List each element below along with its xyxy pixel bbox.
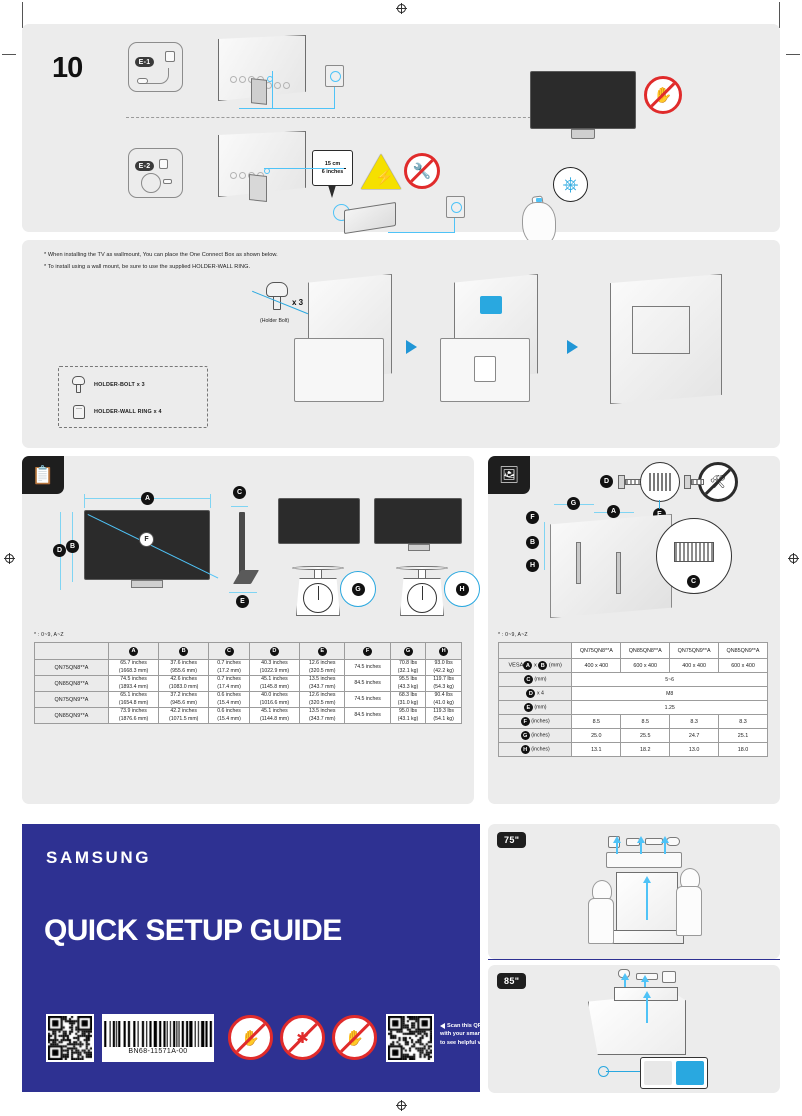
connect-box-cable-head-icon xyxy=(159,159,168,169)
size-tag-75: 75" xyxy=(497,832,526,848)
model-column-header: QN75QN9**A xyxy=(670,643,719,659)
quick-setup-guide-page: 10 E-1 E-2 xyxy=(0,0,802,1116)
dim-label-a: A xyxy=(141,492,154,505)
spec-value-cell: 25.5 xyxy=(621,729,670,743)
registration-mark-left xyxy=(4,553,15,564)
spec-value-cell: 0.6 inches(15.4 mm) xyxy=(209,708,250,724)
spec-value-cell: 400 x 400 xyxy=(572,659,621,673)
spec-value-cell: 8.5 xyxy=(621,715,670,729)
lift-arrow-head-1 xyxy=(613,836,621,843)
registration-mark-right xyxy=(788,553,799,564)
table-header-row: QN75QN8**AQN85QN8**AQN75QN9**AQN85QN9**A xyxy=(499,643,768,659)
flow-arrow-1 xyxy=(406,340,417,354)
page-title: QUICK SETUP GUIDE xyxy=(44,914,342,948)
detail-link-dot xyxy=(598,1066,609,1077)
wallmount-icon: 🖼 xyxy=(488,456,530,494)
crop-mark-tr-v xyxy=(779,2,780,28)
part-label-e1: E-1 xyxy=(135,57,154,67)
registration-mark-bottom xyxy=(396,1100,407,1111)
legend-row-holder-wall-ring: HOLDER-WALL RING x 4 xyxy=(73,405,162,419)
spec-value-cell: 74.5 inches xyxy=(345,692,390,708)
power-icon: ⎈ xyxy=(563,175,579,195)
cable-coil-icon xyxy=(141,173,161,193)
cta-arrow-icon xyxy=(440,1023,445,1029)
clearance-imperial: 6 inches xyxy=(322,169,344,175)
one-connect-cable-1 xyxy=(264,168,344,169)
detail-link-line xyxy=(606,1071,640,1072)
person-right-body-75 xyxy=(676,886,702,936)
column-label-dot: H xyxy=(439,647,448,656)
dim-label-f: F xyxy=(139,532,154,547)
legend-label-holder-wall-ring: HOLDER-WALL RING x 4 xyxy=(94,409,162,415)
spec-value-cell: 8.5 xyxy=(572,715,621,729)
dim-label-f-right: F xyxy=(526,511,539,524)
merged-value-cell: 5~6 xyxy=(572,673,768,687)
row-label-cell: C (mm) xyxy=(499,673,572,687)
label-dot: G xyxy=(521,731,530,740)
column-label-dot: B xyxy=(179,647,188,656)
no-impact-icon-footer: ✱ xyxy=(280,1015,325,1060)
spec-value-cell: 18.2 xyxy=(621,743,670,757)
screw-detail-wrong xyxy=(684,474,704,490)
table-row: QN85QN8**A74.5 inches(1893.4 mm)42.6 inc… xyxy=(35,676,462,692)
spec-value-cell: 42.2 inches(1071.5 mm) xyxy=(159,708,209,724)
tv-pedestal-dim xyxy=(131,580,163,588)
row-label-cell: F (inches) xyxy=(499,715,572,729)
tv-without-stand xyxy=(278,498,360,546)
table-header-row: ABCDEFGH xyxy=(35,643,462,660)
spec-value-cell: 45.1 inches(1145.8 mm) xyxy=(249,676,299,692)
spec-value-cell: 70.8 lbs(32.1 kg) xyxy=(390,660,425,676)
bracket-right xyxy=(616,552,621,594)
spec-value-cell: 0.7 inches(17.2 mm) xyxy=(209,660,250,676)
part-number-label: BN68-11571A-00 xyxy=(128,1048,187,1055)
column-header: F xyxy=(345,643,390,660)
table-row: QN85QN9**A73.9 inches(1876.6 mm)42.2 inc… xyxy=(35,708,462,724)
unboxing-panel-85: 85" xyxy=(488,965,780,1093)
column-label-dot: C xyxy=(225,647,234,656)
callout-stem xyxy=(328,185,336,198)
label-dot: E xyxy=(524,703,533,712)
spec-value-cell: 90.4 lbs(41.0 kg) xyxy=(426,692,462,708)
dim-e-line xyxy=(229,592,257,593)
spec-value-cell: 119.7 lbs(54.3 kg) xyxy=(426,676,462,692)
tv-dimension-diagram xyxy=(84,510,212,588)
part-label-e2: E-2 xyxy=(135,161,154,171)
column-header: D xyxy=(249,643,299,660)
label-dot: F xyxy=(521,717,530,726)
column-header: H xyxy=(426,643,462,660)
tv-side-view xyxy=(233,512,255,590)
table-row: F (inches)8.58.58.38.3 xyxy=(499,715,768,729)
spec-value-cell: 73.9 inches(1876.6 mm) xyxy=(109,708,159,724)
row-label-cell: D x 4 xyxy=(499,687,572,701)
tv-perspective-bottom xyxy=(218,131,310,215)
weight-bubble-g: G xyxy=(340,571,376,607)
tv-vent-holes-right xyxy=(265,82,299,90)
holder-bolt-illustration xyxy=(266,282,288,310)
clearance-metric: 15 cm xyxy=(325,161,340,167)
holder-bolt-caption: (Holder Bolt) xyxy=(260,318,289,324)
column-label-dot: D xyxy=(270,647,279,656)
part-box-e2: E-2 xyxy=(128,148,183,198)
dim-label-b: B xyxy=(66,540,79,553)
tv-carton-85 xyxy=(588,993,686,1055)
crop-mark-tr-h xyxy=(786,54,800,55)
table-row: E (mm)1.25 xyxy=(499,701,768,715)
lift-tv-arrow-85 xyxy=(646,997,648,1023)
spec-value-cell: 25.1 xyxy=(719,729,768,743)
thread-pattern xyxy=(649,473,672,491)
spec-value-cell: 25.0 xyxy=(572,729,621,743)
dim-label-d: D xyxy=(53,544,66,557)
step-number: 10 xyxy=(52,52,82,85)
spec-value-cell: 65.1 inches(1654.8 mm) xyxy=(109,692,159,708)
table-row: H (inches)13.118.213.018.0 xyxy=(499,743,768,757)
wall-outlet-bottom xyxy=(446,196,465,218)
part-box-e1: E-1 xyxy=(128,42,183,92)
spec-value-cell: 24.7 xyxy=(670,729,719,743)
barcode: BN68-11571A-00 xyxy=(102,1014,214,1062)
legend-row-holder-bolt: HOLDER-BOLT x 3 xyxy=(72,376,145,393)
dim-label-e: E xyxy=(236,595,249,608)
qr-code-video[interactable] xyxy=(386,1014,434,1062)
dim-label-g: G xyxy=(352,583,365,596)
spec-value-cell: 37.6 inches(955.6 mm) xyxy=(159,660,209,676)
column-header: A xyxy=(109,643,159,660)
tv-screen-with-stand xyxy=(374,498,462,544)
dimensions-section: 📋 A B D F C E xyxy=(22,456,474,804)
spec-value-cell: 84.5 inches xyxy=(345,708,390,724)
spec-value-cell: 18.0 xyxy=(719,743,768,757)
no-push-screen-icon-footer: ✋ xyxy=(228,1015,273,1060)
label-dot: H xyxy=(521,745,530,754)
model-column-header: QN85QN9**A xyxy=(719,643,768,659)
dimensions-table: ABCDEFGHQN75QN8**A65.7 inches(1668.3 mm)… xyxy=(34,642,462,724)
lift-tv-arrow-head xyxy=(643,876,651,883)
detail-callout-right xyxy=(676,1061,704,1085)
cable-tip-icon xyxy=(163,179,172,184)
flow-arrow-2 xyxy=(567,340,578,354)
label-dot: C xyxy=(524,675,533,684)
label-dot: D xyxy=(526,689,535,698)
dim-label-d-right: D xyxy=(600,475,613,488)
registration-mark-top xyxy=(396,3,407,14)
tv-pedestal xyxy=(571,129,595,139)
spec-value-cell: 42.6 inches(1083.0 mm) xyxy=(159,676,209,692)
power-cable-segment-2 xyxy=(239,108,334,109)
accessory-item-85-3 xyxy=(662,971,676,983)
power-cable-segment-3 xyxy=(334,86,335,109)
spec-value-cell: 13.5 inches(343.7 mm) xyxy=(300,708,345,724)
column-label-dot: E xyxy=(318,647,327,656)
holder-bolt-icon xyxy=(72,376,85,393)
spec-value-cell: 0.6 inches(15.4 mm) xyxy=(209,692,250,708)
no-cable-bend-icon: 🔧 xyxy=(404,153,440,189)
tv-with-stand xyxy=(374,498,462,554)
spec-value-cell: 74.5 inches(1893.4 mm) xyxy=(109,676,159,692)
lift-arrow-shaft-3 xyxy=(664,842,666,854)
column-header: E xyxy=(300,643,345,660)
lift-arrow-head-2 xyxy=(637,836,645,843)
weight-scale-g xyxy=(290,566,346,616)
row-label-cell: H (inches) xyxy=(499,743,572,757)
column-label-dot: A xyxy=(129,647,138,656)
wallmount-note-line1: * When installing the TV as wallmount, Y… xyxy=(44,252,278,258)
merged-value-cell: M8 xyxy=(572,687,768,701)
spec-value-cell: 37.2 inches(945.6 mm) xyxy=(159,692,209,708)
dimensions-footnote: * : 0~9, A~Z xyxy=(34,632,64,638)
one-connect-holder xyxy=(249,174,267,202)
table-row: QN75QN8**A65.7 inches(1668.3 mm)37.6 inc… xyxy=(35,660,462,676)
row-label-cell: G (inches) xyxy=(499,729,572,743)
column-label-dot: G xyxy=(404,647,413,656)
wallmount-tv-panel xyxy=(550,514,672,618)
wallmount-spec-section: 🖼 D E 🛠 G A B F H C xyxy=(488,456,780,804)
merged-value-cell: 1.25 xyxy=(572,701,768,715)
row-label-cell: E (mm) xyxy=(499,701,572,715)
spec-value-cell: 13.0 xyxy=(670,743,719,757)
mounting-zoom-circle-a xyxy=(294,338,384,402)
dim-label-a-right: A xyxy=(607,505,620,518)
crop-mark-tl-h xyxy=(2,54,16,55)
corner-cell xyxy=(499,643,572,659)
spec-value-cell: 119.3 lbs(54.1 kg) xyxy=(426,708,462,724)
label-dot: A xyxy=(523,661,532,670)
person-left-body-75 xyxy=(588,898,614,944)
dim-label-h: H xyxy=(456,583,469,596)
no-push-screen-icon: ✋ xyxy=(644,76,682,114)
table-row: C (mm)5~6 xyxy=(499,673,768,687)
dim-a-tick-l xyxy=(84,494,85,508)
samsung-logo: SAMSUNG xyxy=(46,848,151,868)
table-row: QN75QN9**A65.1 inches(1654.8 mm)37.2 inc… xyxy=(35,692,462,708)
spec-value-cell: 600 x 400 xyxy=(719,659,768,673)
lift-arrow-shaft-1 xyxy=(616,842,618,854)
lift-arrow-85-head-2 xyxy=(641,975,649,982)
spec-value-cell: 8.3 xyxy=(719,715,768,729)
row-label-cell: VESAA x B (mm) xyxy=(499,659,572,673)
column-header: G xyxy=(390,643,425,660)
column-header xyxy=(35,643,109,660)
tv-front-view xyxy=(530,71,636,141)
model-name-cell: QN75QN9**A xyxy=(35,692,109,708)
column-label-dot: F xyxy=(363,647,372,656)
brand-panel: SAMSUNG QUICK SETUP GUIDE BN68-11571A-00… xyxy=(22,824,480,1092)
dim-label-c: C xyxy=(233,486,246,499)
lift-arrow-shaft-2 xyxy=(640,842,642,854)
unboxing-panel-75: 75" xyxy=(488,824,780,959)
table-row: G (inches)25.025.524.725.1 xyxy=(499,729,768,743)
spec-value-cell: 40.3 inches(1022.9 mm) xyxy=(249,660,299,676)
holder-wall-ring-icon xyxy=(73,405,85,419)
cable-plug-icon xyxy=(137,78,148,84)
spec-value-cell: 12.6 inches(320.5 mm) xyxy=(300,660,345,676)
table-row: D x 4M8 xyxy=(499,687,768,701)
crop-mark-tl-v xyxy=(22,2,23,28)
accessory-tray-75 xyxy=(606,852,682,868)
legend-label-holder-bolt: HOLDER-BOLT x 3 xyxy=(94,382,145,388)
high-voltage-icon xyxy=(361,154,401,189)
clipboard-icon: 📋 xyxy=(22,456,64,494)
spec-value-cell: 12.6 inches(320.5 mm) xyxy=(300,692,345,708)
spec-value-cell: 65.7 inches(1668.3 mm) xyxy=(109,660,159,676)
column-header: B xyxy=(159,643,209,660)
lift-tv-arrow-85-head xyxy=(643,991,651,998)
dim-label-b-right: B xyxy=(526,536,539,549)
lift-tv-arrow-shaft xyxy=(646,882,648,920)
wallmount-bracket xyxy=(632,306,690,354)
spec-value-cell: 95.0 lbs(43.1 kg) xyxy=(390,708,425,724)
column-header: C xyxy=(209,643,250,660)
no-press-panel-icon-footer: ✋ xyxy=(332,1015,377,1060)
spec-value-cell: 93.0 lbs(42.2 kg) xyxy=(426,660,462,676)
weight-bubble-h: H xyxy=(444,571,480,607)
spec-value-cell: 600 x 400 xyxy=(621,659,670,673)
tv-stand-top xyxy=(251,78,267,105)
spec-value-cell: 13.5 inches(343.7 mm) xyxy=(300,676,345,692)
label-dot: B xyxy=(538,661,547,670)
no-wrong-screw-icon: 🛠 xyxy=(698,462,738,502)
spec-value-cell: 74.5 inches xyxy=(345,660,390,676)
spec-value-cell: 68.3 lbs(31.0 kg) xyxy=(390,692,425,708)
dim-c-line xyxy=(231,506,248,507)
spec-value-cell: 45.1 inches(1144.8 mm) xyxy=(249,708,299,724)
model-column-header: QN75QN8**A xyxy=(572,643,621,659)
spec-value-cell: 84.5 inches xyxy=(345,676,390,692)
power-adapter-icon xyxy=(165,51,175,62)
spec-value-cell: 0.7 inches(17.4 mm) xyxy=(209,676,250,692)
model-name-cell: QN75QN8**A xyxy=(35,660,109,676)
spec-value-cell: 8.3 xyxy=(670,715,719,729)
tv-perspective-top xyxy=(218,35,310,119)
wallmount-table: QN75QN8**AQN85QN8**AQN75QN9**AQN85QN9**A… xyxy=(498,642,768,757)
tv-carton-base-75 xyxy=(608,930,684,944)
panel-divider-rule xyxy=(488,959,780,960)
dim-label-c-right: C xyxy=(687,575,700,588)
spec-value-cell: 40.0 inches(1016.6 mm) xyxy=(249,692,299,708)
tv-screen-no-stand xyxy=(278,498,360,544)
tv-pedestal-weight xyxy=(408,544,430,551)
power-button-callout: ⎈ xyxy=(553,167,588,202)
wall-outlet-top xyxy=(325,65,344,87)
mount-cross-section xyxy=(674,542,714,562)
spec-value-cell: 95.5 lbs(43.3 kg) xyxy=(390,676,425,692)
power-cable-segment-1 xyxy=(272,71,273,108)
dim-label-h-right: H xyxy=(526,559,539,572)
outlet-detail-b xyxy=(474,356,496,382)
dim-label-g-right: G xyxy=(567,497,580,510)
wallmount-note-line2: * To install using a wall mount, be sure… xyxy=(44,264,250,270)
holder-bolt-qty: x 3 xyxy=(292,298,303,307)
wallmount-note-panel: * When installing the TV as wallmount, Y… xyxy=(22,240,780,448)
model-name-cell: QN85QN8**A xyxy=(35,676,109,692)
model-name-cell: QN85QN9**A xyxy=(35,708,109,724)
step-divider xyxy=(126,117,546,118)
size-tag-85: 85" xyxy=(497,973,526,989)
table-row: VESAA x B (mm)400 x 400600 x 400400 x 40… xyxy=(499,659,768,673)
tv-screen xyxy=(530,71,636,129)
spec-value-cell: 13.1 xyxy=(572,743,621,757)
wallmount-footnote: * : 0~9, A~Z xyxy=(498,632,528,638)
dim-a-tick-r xyxy=(210,494,211,508)
lift-arrow-head-3 xyxy=(661,836,669,843)
bracket-left xyxy=(576,542,581,584)
one-connect-slot-highlight xyxy=(480,296,502,314)
dim-b-line-right xyxy=(544,522,545,570)
pitch-indicator xyxy=(659,500,660,509)
lift-arrow-85-head-1 xyxy=(621,973,629,980)
model-column-header: QN85QN8**A xyxy=(621,643,670,659)
spec-value-cell: 400 x 400 xyxy=(670,659,719,673)
detail-callout-left xyxy=(644,1061,672,1085)
step-10-panel: 10 E-1 E-2 xyxy=(22,24,780,232)
one-connect-box xyxy=(344,202,396,234)
weight-scale-h xyxy=(394,566,450,616)
one-connect-cable-3 xyxy=(388,232,454,233)
qr-code-left xyxy=(46,1014,94,1062)
